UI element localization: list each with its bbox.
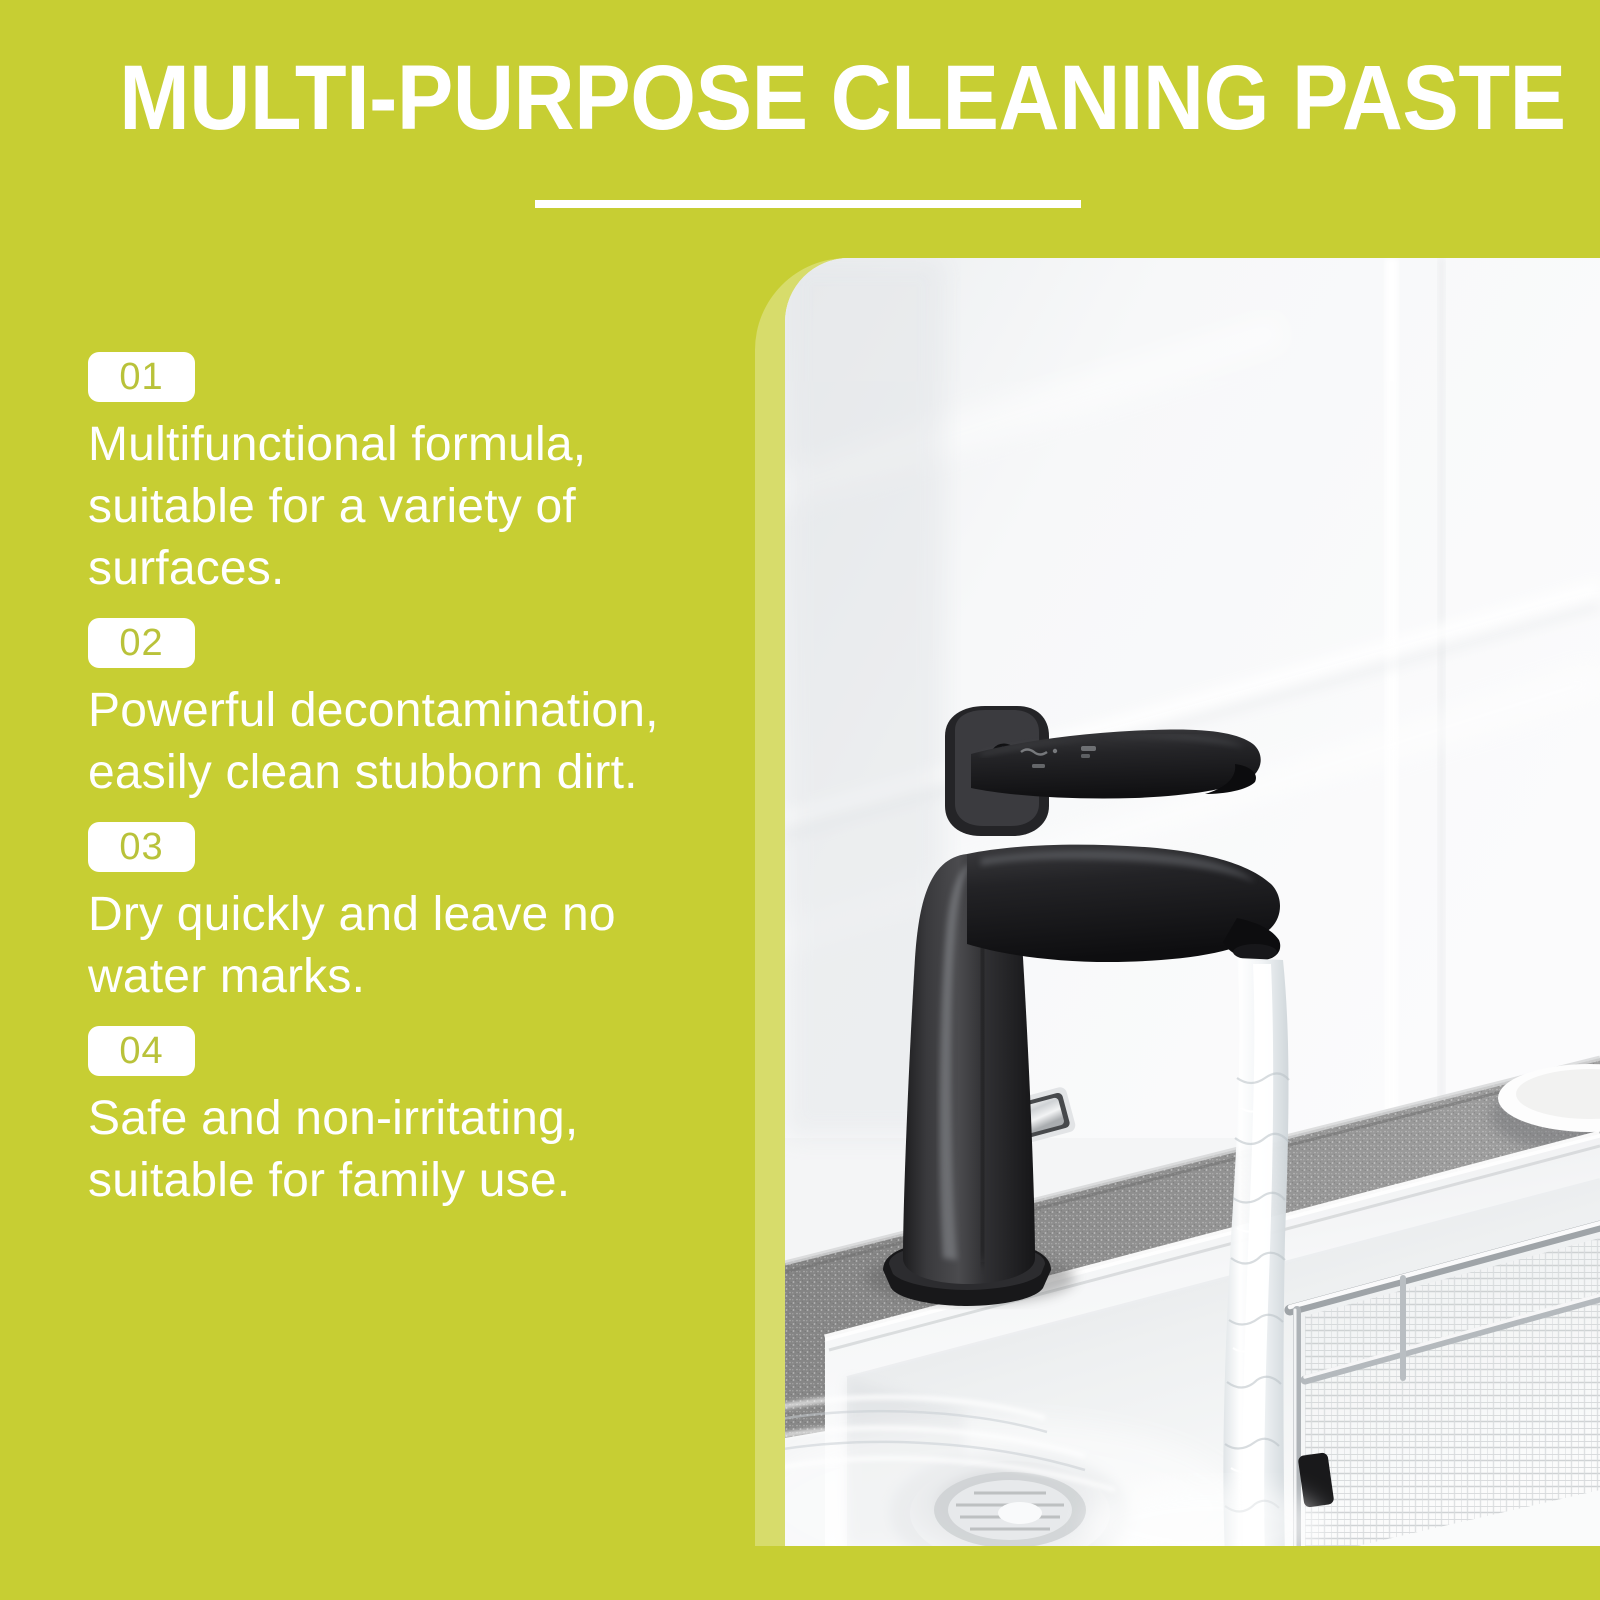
page-title: MULTI-PURPOSE CLEANING PASTE (119, 48, 1481, 148)
product-photo (785, 258, 1600, 1546)
product-feature-poster: MULTI-PURPOSE CLEANING PASTE 01 Multifun… (0, 0, 1600, 1600)
status-badge: 02 (88, 618, 195, 668)
feature-list: 01 Multifunctional formula, suitable for… (88, 352, 728, 1230)
list-item: 03 Dry quickly and leave no water marks. (88, 822, 728, 1008)
list-item: 02 Powerful decontamination, easily clea… (88, 618, 728, 804)
feature-description: Safe and non-irritating, suitable for fa… (88, 1088, 708, 1212)
status-badge: 04 (88, 1026, 195, 1076)
feature-description: Powerful decontamination, easily clean s… (88, 680, 708, 804)
feature-description: Dry quickly and leave no water marks. (88, 884, 708, 1008)
title-divider (535, 200, 1081, 208)
list-item: 04 Safe and non-irritating, suitable for… (88, 1026, 728, 1212)
status-badge: 01 (88, 352, 195, 402)
poster-header: MULTI-PURPOSE CLEANING PASTE (0, 0, 1600, 240)
list-item: 01 Multifunctional formula, suitable for… (88, 352, 728, 600)
status-badge: 03 (88, 822, 195, 872)
feature-description: Multifunctional formula, suitable for a … (88, 414, 708, 600)
